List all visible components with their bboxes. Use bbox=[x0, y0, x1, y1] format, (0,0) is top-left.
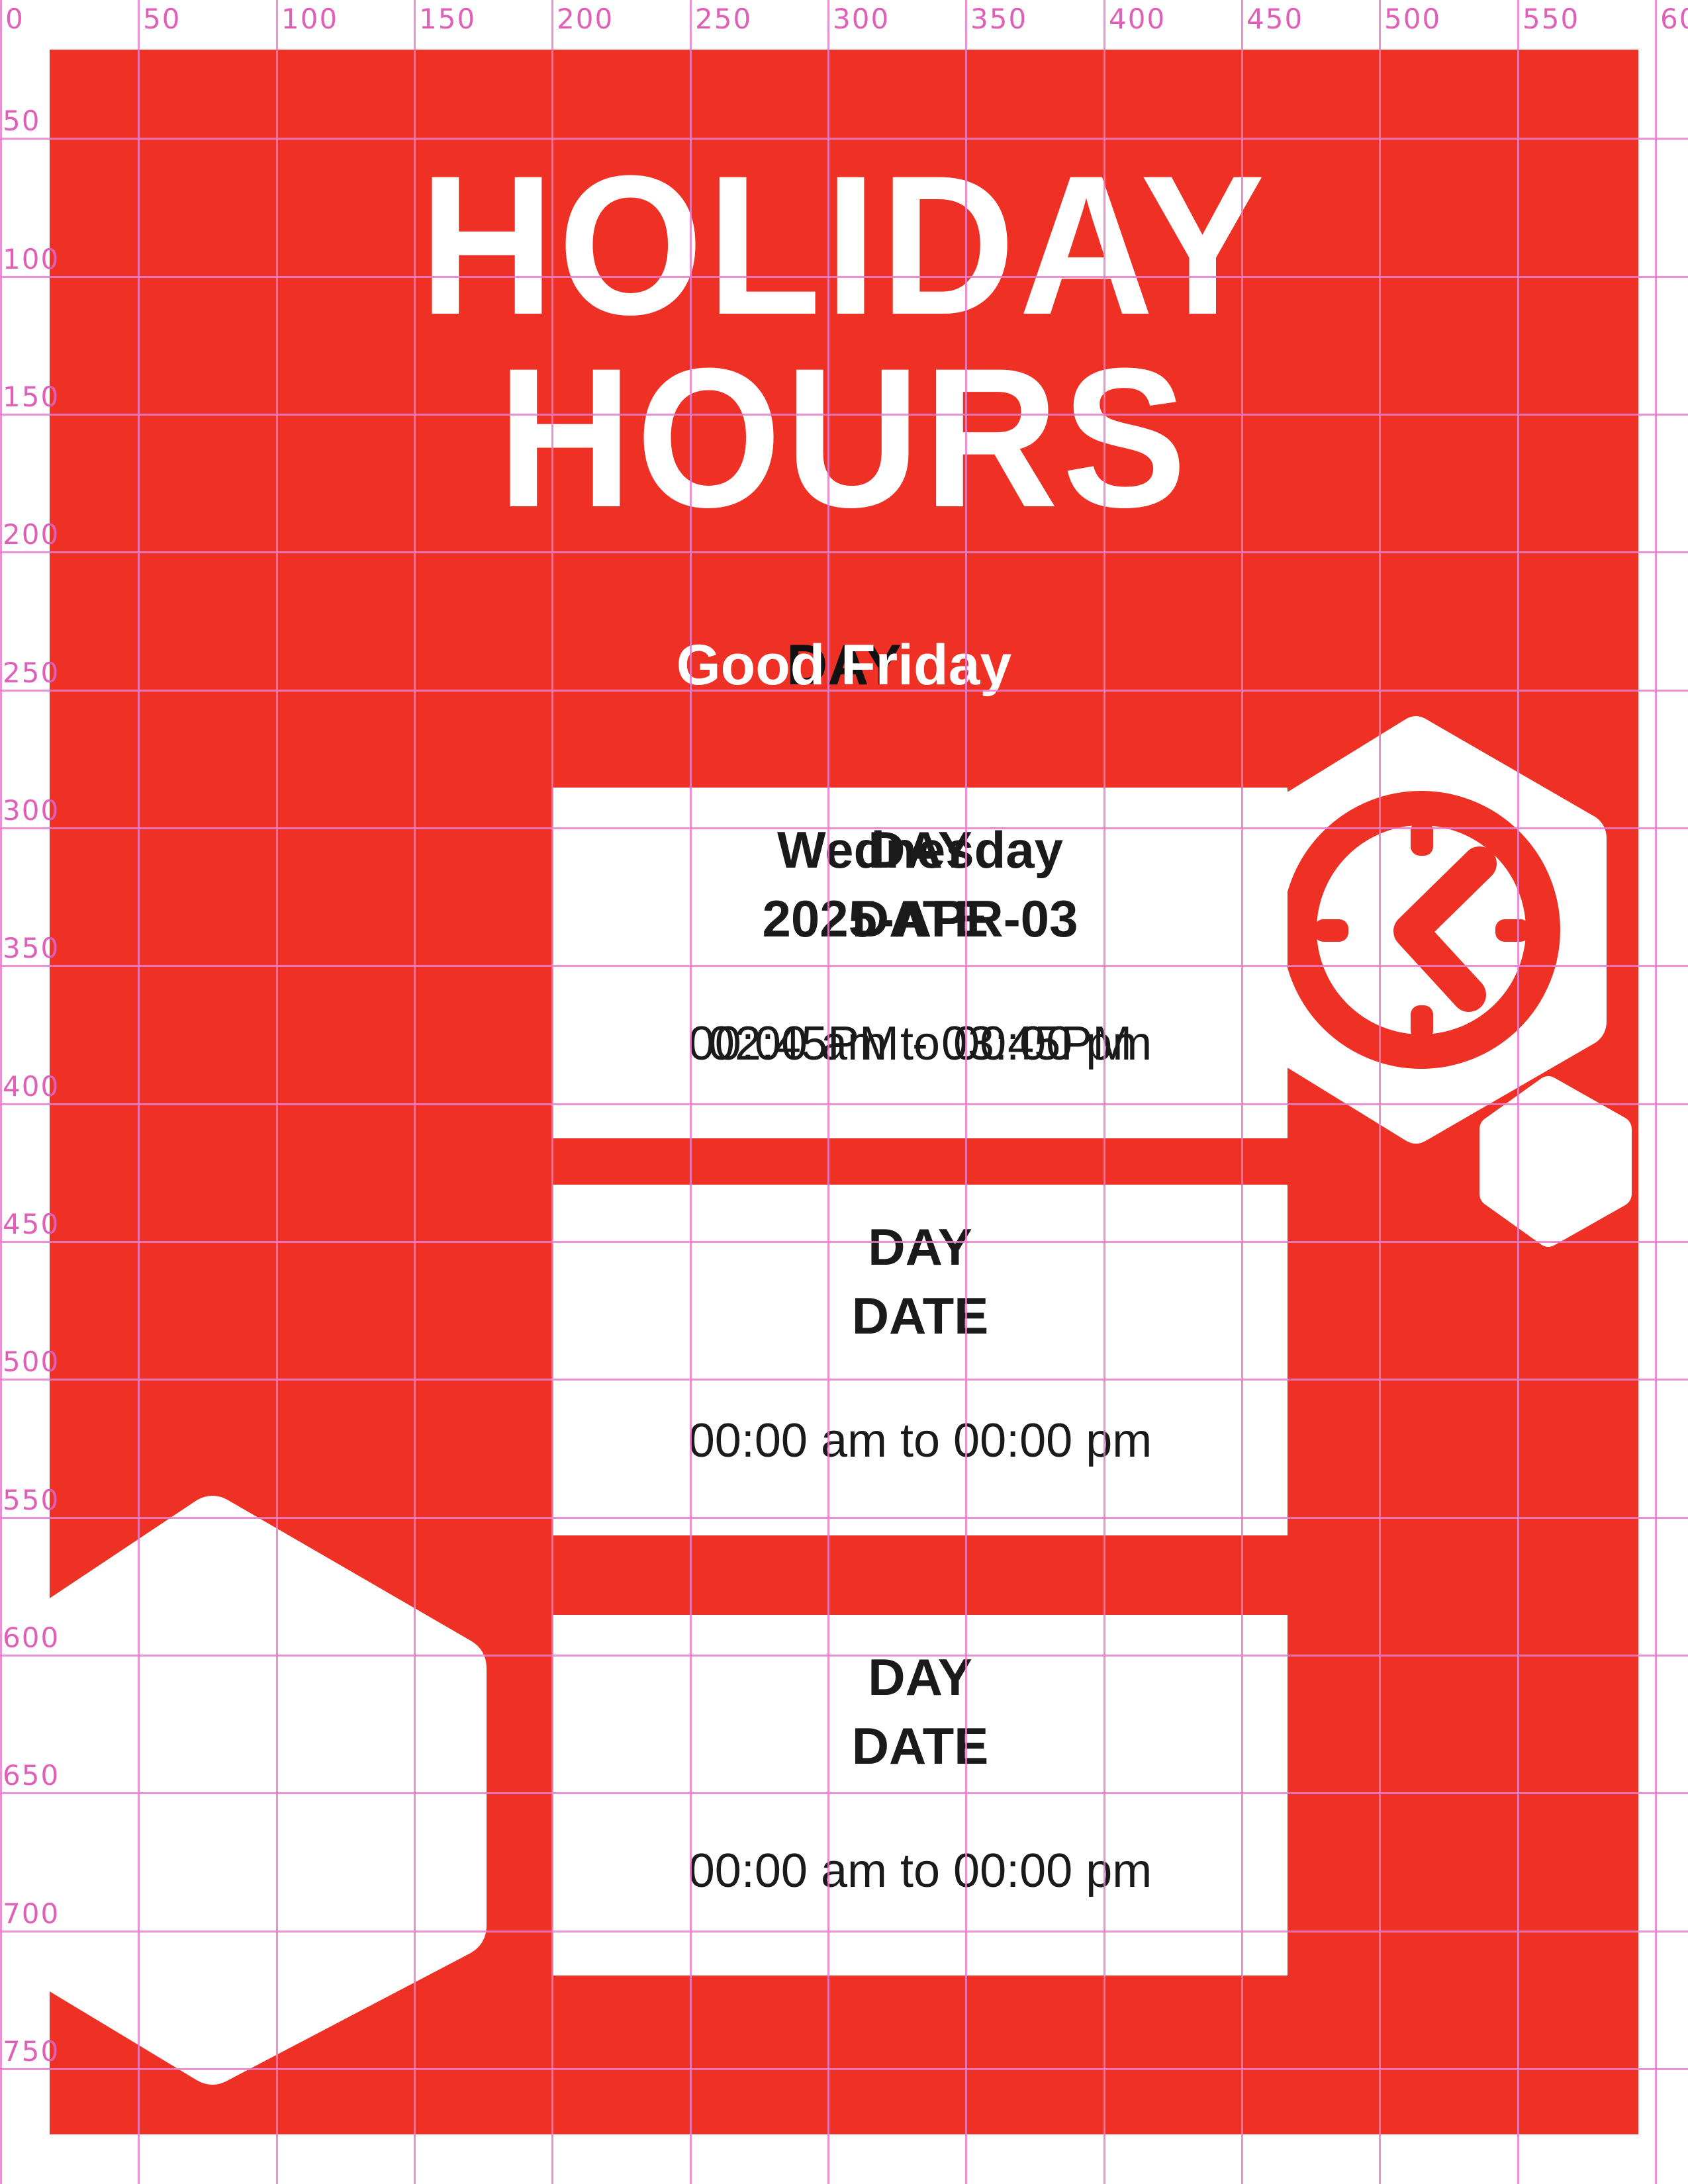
card-2-day-placeholder: DAY bbox=[573, 1215, 1268, 1279]
card-2-time-placeholder: 00:00 am to 00:00 pm bbox=[573, 1411, 1268, 1471]
grid-label-x: 400 bbox=[1109, 5, 1166, 33]
card-1-day-value: Wednesday bbox=[573, 818, 1268, 882]
card-1-date-value: 2025-APR-03 bbox=[573, 887, 1268, 950]
schedule-card-3[interactable]: DAY DATE 00:00 am to 00:00 pm bbox=[553, 1615, 1288, 1976]
grid-label-x: 50 bbox=[143, 5, 181, 33]
grid-label-x: 350 bbox=[970, 5, 1027, 33]
hexagon-small-icon bbox=[1479, 1075, 1632, 1248]
card-1-date: DATE 2025-APR-03 bbox=[573, 887, 1268, 950]
subtitle-value: Good Friday bbox=[50, 625, 1638, 705]
card-2-day: DAY bbox=[573, 1215, 1268, 1279]
hexagon-large-icon bbox=[50, 1492, 487, 2088]
clock-icon bbox=[1299, 808, 1543, 1052]
card-1-day: DAY Wednesday bbox=[573, 818, 1268, 882]
poster-subtitle: DAY Good Friday bbox=[50, 625, 1638, 718]
card-2-date: DATE bbox=[573, 1284, 1268, 1347]
grid-label-x: 150 bbox=[419, 5, 476, 33]
grid-line-vertical bbox=[0, 0, 2, 2184]
grid-label-x: 300 bbox=[833, 5, 890, 33]
card-1-time-value: 02:45PM - 03:45PM bbox=[573, 1014, 1268, 1073]
card-3-day: DAY bbox=[573, 1645, 1268, 1709]
card-2-time: 00:00 am to 00:00 pm bbox=[573, 1411, 1268, 1472]
grid-label-x: 100 bbox=[281, 5, 338, 33]
grid-label-x: 200 bbox=[557, 5, 614, 33]
card-3-time: 00:00 am to 00:00 pm bbox=[573, 1841, 1268, 1902]
card-3-time-placeholder: 00:00 am to 00:00 pm bbox=[573, 1841, 1268, 1901]
card-2-date-placeholder: DATE bbox=[573, 1284, 1268, 1347]
schedule-card-2[interactable]: DAY DATE 00:00 am to 00:00 pm bbox=[553, 1185, 1288, 1535]
card-3-date-placeholder: DATE bbox=[573, 1714, 1268, 1778]
grid-label-x: 450 bbox=[1246, 5, 1303, 33]
poster-title: HOLIDAY HOURS bbox=[50, 149, 1638, 534]
grid-label-y: 50 bbox=[3, 107, 40, 135]
card-3-date: DATE bbox=[573, 1714, 1268, 1778]
schedule-card-1[interactable]: DAY Wednesday DATE 2025-APR-03 00:00 am … bbox=[553, 788, 1288, 1138]
title-line-1: HOLIDAY bbox=[97, 149, 1591, 341]
poster-canvas: HOLIDAY HOURS DAY Good Friday bbox=[50, 50, 1638, 2134]
grid-label-x: 550 bbox=[1523, 5, 1579, 33]
title-line-2: HOURS bbox=[97, 341, 1591, 534]
card-1-time: 00:00 am to 00:00 pm 02:45PM - 03:45PM bbox=[573, 1014, 1268, 1075]
grid-line-vertical bbox=[1655, 0, 1657, 2184]
grid-label-x: 250 bbox=[695, 5, 752, 33]
screenshot-stage: HOLIDAY HOURS DAY Good Friday bbox=[0, 0, 1688, 2184]
grid-label-x: 600 bbox=[1660, 5, 1688, 33]
card-3-day-placeholder: DAY bbox=[573, 1645, 1268, 1709]
grid-label-x: 0 bbox=[5, 5, 24, 33]
grid-label-x: 500 bbox=[1384, 5, 1441, 33]
